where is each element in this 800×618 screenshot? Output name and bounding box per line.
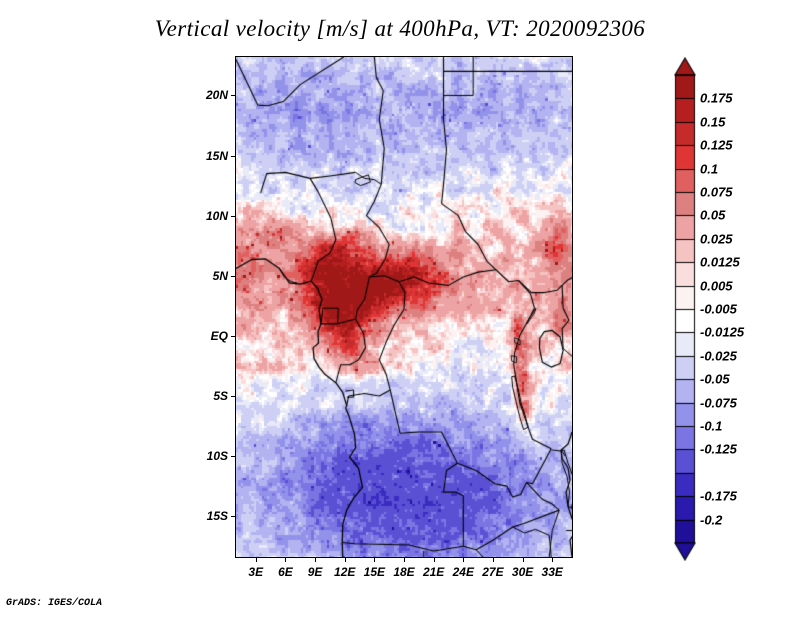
lon-axis-label: 27E <box>482 565 503 579</box>
lat-axis-label: 5S <box>178 389 228 403</box>
colorbar-tick-label: 0.025 <box>700 231 733 246</box>
lon-tick <box>404 557 405 562</box>
lon-tick <box>256 557 257 562</box>
lon-axis-label: 33E <box>542 565 563 579</box>
lat-tick <box>231 156 236 157</box>
lat-tick <box>231 276 236 277</box>
lon-tick <box>434 557 435 562</box>
colorbar-tick-label: 0.05 <box>700 208 725 223</box>
lat-tick <box>231 456 236 457</box>
lat-tick <box>231 516 236 517</box>
lon-tick <box>374 557 375 562</box>
lat-axis-label: 10N <box>178 209 228 223</box>
colorbar-tick-label: 0.0125 <box>700 255 740 270</box>
lon-axis-label: 21E <box>423 565 444 579</box>
lon-tick <box>315 557 316 562</box>
colorbar-tick-label: 0.15 <box>700 114 725 129</box>
colorbar-tick-label: 0.1 <box>700 161 718 176</box>
lon-tick <box>493 557 494 562</box>
colorbar-tick-label: -0.005 <box>700 302 737 317</box>
lat-tick <box>231 396 236 397</box>
lon-axis-label: 12E <box>334 565 355 579</box>
map-plot-area <box>236 57 572 557</box>
colorbar-tick-label: -0.05 <box>700 372 730 387</box>
lon-axis-label: 6E <box>278 565 293 579</box>
lat-axis-label: 15S <box>178 509 228 523</box>
colorbar-tick-label: 0.005 <box>700 278 733 293</box>
footer-credit: GrADS: IGES/COLA <box>6 598 102 609</box>
colorbar-tick-label: 0.175 <box>700 91 733 106</box>
lon-tick <box>345 557 346 562</box>
lat-tick <box>231 95 236 96</box>
colorbar-tick-label: -0.0125 <box>700 325 744 340</box>
page-title: Vertical velocity [m/s] at 400hPa, VT: 2… <box>0 16 800 42</box>
colorbar-tick-label: 0.075 <box>700 185 733 200</box>
colorbar-tick-label: -0.175 <box>700 489 737 504</box>
colorbar-tick-label: -0.125 <box>700 442 737 457</box>
lat-axis-label: 5N <box>178 269 228 283</box>
lat-axis-label: 20N <box>178 88 228 102</box>
lat-axis-label: EQ <box>178 329 228 343</box>
lat-tick <box>231 336 236 337</box>
lon-tick <box>552 557 553 562</box>
lat-axis-label: 10S <box>178 449 228 463</box>
vertical-velocity-heatmap <box>236 57 572 557</box>
lat-tick <box>231 216 236 217</box>
lon-tick <box>523 557 524 562</box>
lon-axis-label: 24E <box>453 565 474 579</box>
lon-axis-label: 30E <box>512 565 533 579</box>
colorbar-tick-label: 0.125 <box>700 138 733 153</box>
lon-axis-label: 15E <box>364 565 385 579</box>
lon-tick <box>463 557 464 562</box>
lat-axis-label: 15N <box>178 149 228 163</box>
lon-tick <box>285 557 286 562</box>
lon-axis-label: 3E <box>248 565 263 579</box>
lon-axis-label: 9E <box>308 565 323 579</box>
colorbar <box>674 57 696 561</box>
colorbar-tick-label: -0.075 <box>700 395 737 410</box>
colorbar-tick-label: -0.1 <box>700 419 722 434</box>
colorbar-tick-label: -0.2 <box>700 512 722 527</box>
lon-axis-label: 18E <box>393 565 414 579</box>
colorbar-tick-label: -0.025 <box>700 348 737 363</box>
colorbar-gradient <box>674 57 696 561</box>
